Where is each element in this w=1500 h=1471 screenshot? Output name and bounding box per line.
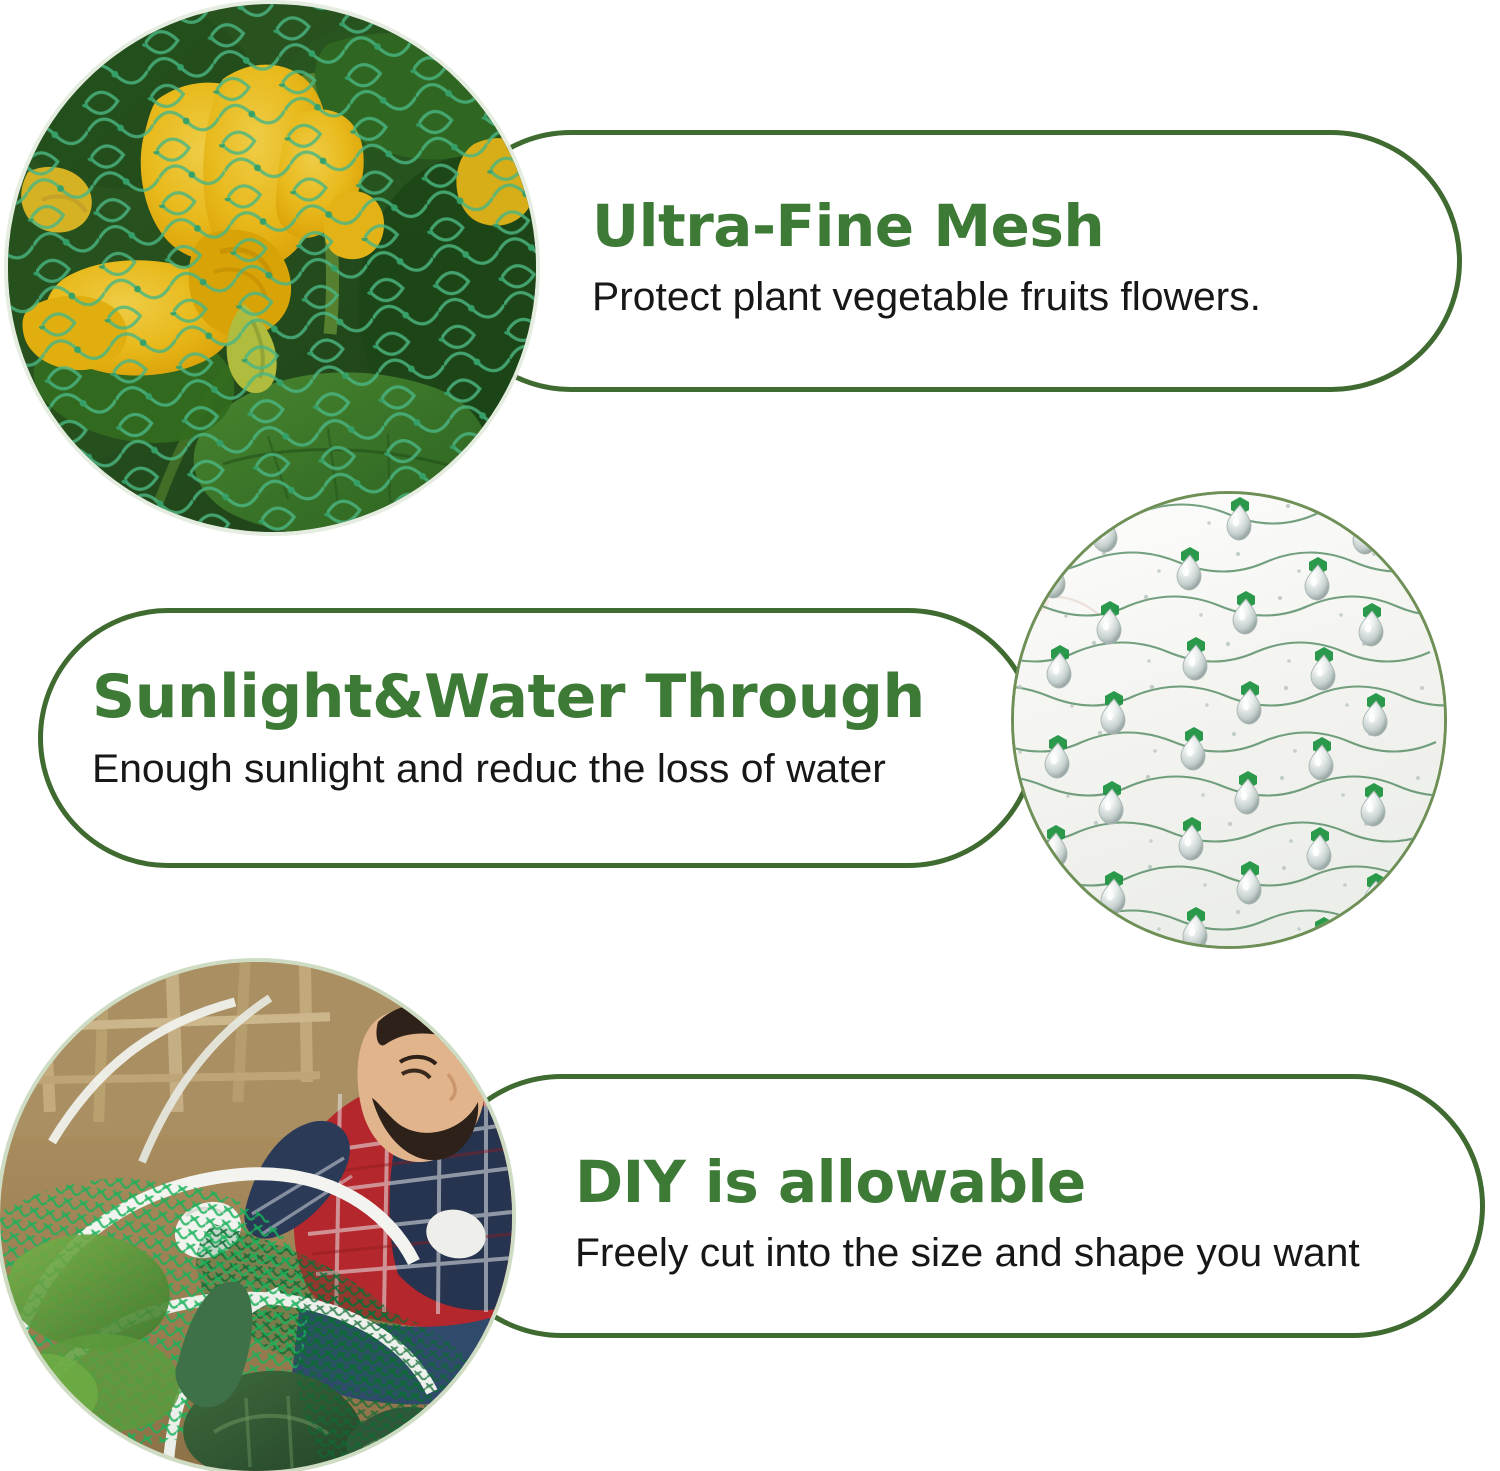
product-feature-infographic: Ultra-Fine Mesh Protect plant vegetable …	[0, 0, 1500, 1471]
feature-text-2: Sunlight&Water Through Enough sunlight a…	[92, 666, 925, 793]
feature-image-2	[1014, 494, 1444, 946]
feature-text-3: DIY is allowable Freely cut into the siz…	[575, 1152, 1344, 1277]
feature-text-1: Ultra-Fine Mesh Protect plant vegetable …	[592, 196, 1248, 321]
net-water-droplets-photo	[1014, 494, 1444, 946]
feature-subtitle-2: Enough sunlight and reduc the loss of wa…	[92, 745, 941, 793]
squash-flower-netting-photo	[8, 4, 536, 532]
feature-title-3: DIY is allowable	[575, 1152, 1344, 1213]
feature-title-2: Sunlight&Water Through	[92, 666, 925, 729]
gardener-installing-net-photo	[0, 962, 512, 1471]
feature-image-1	[8, 4, 536, 532]
feature-subtitle-3: Freely cut into the size and shape you w…	[575, 1229, 1360, 1277]
feature-subtitle-1: Protect plant vegetable fruits flowers.	[592, 273, 1261, 321]
feature-image-3	[0, 962, 512, 1471]
feature-title-1: Ultra-Fine Mesh	[592, 196, 1248, 257]
